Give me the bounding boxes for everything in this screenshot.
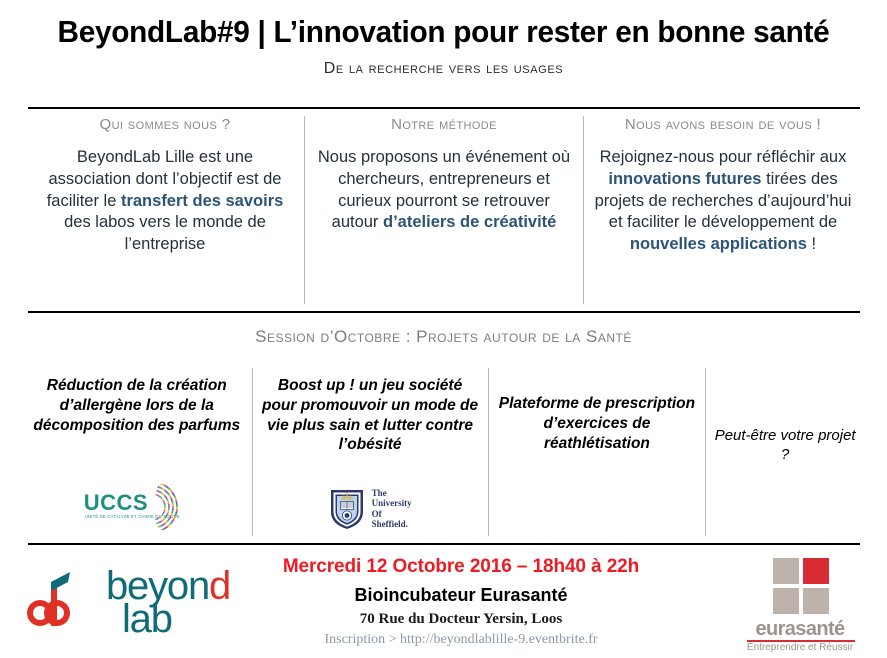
- sheffield-crest-icon: [329, 488, 365, 530]
- sheffield-line-1: The: [372, 488, 412, 499]
- intro-body-2: Nous proposons un événement où chercheur…: [313, 147, 575, 234]
- footer: beyond lab Mercredi 12 Octobre 2016 – 18…: [0, 548, 887, 658]
- intro-column-notre-methode: Notre méthode Nous proposons un événemen…: [304, 116, 583, 304]
- project-title-2: Boost up ! un jeu société pour promouvoi…: [261, 376, 480, 455]
- uccs-logo: UCCS UNITÉ DE CATALYSE ET CHIMIE DU SOLI…: [84, 484, 190, 530]
- intro-text-3e: !: [807, 235, 816, 253]
- project-column-parfums: Réduction de la création d’allergène lor…: [22, 368, 252, 536]
- eurasante-wordmark: eurasanté: [735, 618, 865, 641]
- intro-column-qui-sommes-nous: Qui sommes nous ? BeyondLab Lille est un…: [26, 116, 304, 304]
- poster-subtitle: De la recherche vers les usages: [0, 60, 887, 78]
- project-logo-slot-2: The University Of Sheffield.: [261, 480, 480, 530]
- intro-heading-2: Notre méthode: [313, 116, 575, 133]
- intro-body-3: Rejoignez-nous pour réfléchir aux innova…: [592, 147, 854, 256]
- project-title-4: Peut-être votre projet ?: [714, 426, 856, 464]
- project-columns: Réduction de la création d’allergène lor…: [22, 368, 864, 536]
- event-venue: Bioincubateur Eurasanté: [228, 585, 694, 606]
- divider-bottom: [28, 543, 860, 545]
- footer-details: Mercredi 12 Octobre 2016 – 18h40 à 22h B…: [228, 556, 694, 648]
- poster-root: BeyondLab#9 | L’innovation pour rester e…: [0, 0, 887, 658]
- beyondlab-word-d: d: [209, 564, 230, 608]
- intro-columns: Qui sommes nous ? BeyondLab Lille est un…: [26, 116, 862, 304]
- beyondlab-wordmark: beyond lab: [106, 570, 230, 636]
- beyondlab-logo: beyond lab: [18, 558, 218, 650]
- intro-text-3d: nouvelles applications: [630, 235, 807, 253]
- sheffield-line-2: University: [372, 498, 412, 509]
- project-title-3: Plateforme de prescription d’exercices d…: [497, 394, 698, 453]
- eurasante-tagline: Entreprendre et Réussir: [735, 642, 865, 653]
- intro-text-3b: innovations futures: [608, 170, 761, 188]
- intro-heading-3: Nous avons besoin de vous !: [592, 116, 854, 133]
- session-title: Session d’Octobre : Projets autour de la…: [0, 327, 887, 347]
- event-address: 70 Rue du Docteur Yersin, Loos: [228, 611, 694, 628]
- intro-text-1b: transfert des savoirs: [121, 192, 283, 210]
- intro-text-2b: d’ateliers de créativité: [383, 213, 556, 231]
- uccs-dot-ring-icon: [138, 484, 190, 530]
- eurasante-square-bottom-right: [803, 588, 829, 614]
- project-logo-slot-1: UCCS UNITÉ DE CATALYSE ET CHIMIE DU SOLI…: [30, 480, 244, 530]
- sheffield-line-4: Sheffield.: [372, 519, 412, 530]
- intro-text-3a: Rejoignez-nous pour réfléchir aux: [600, 148, 847, 166]
- sheffield-logo-text: The University Of Sheffield.: [372, 488, 412, 530]
- divider-middle: [28, 311, 860, 313]
- project-column-plateforme: Plateforme de prescription d’exercices d…: [488, 368, 706, 536]
- divider-top: [28, 107, 860, 109]
- eurasante-square-top-left: [773, 558, 799, 584]
- sheffield-line-3: Of: [372, 509, 412, 520]
- project-title-1: Réduction de la création d’allergène lor…: [30, 376, 244, 435]
- intro-heading-1: Qui sommes nous ?: [34, 116, 296, 133]
- intro-body-1: BeyondLab Lille est une association dont…: [34, 147, 296, 256]
- sheffield-logo: The University Of Sheffield.: [329, 488, 412, 530]
- beyondlab-mark-icon: [18, 566, 102, 642]
- project-column-votre-projet: Peut-être votre projet ?: [705, 368, 864, 536]
- intro-text-1c: des labos vers le monde de l’entreprise: [64, 213, 266, 253]
- intro-column-besoin-de-vous: Nous avons besoin de vous ! Rejoignez-no…: [583, 116, 862, 304]
- eurasante-square-top-right: [803, 558, 829, 584]
- registration-link[interactable]: Inscription > http://beyondlablille-9.ev…: [228, 632, 694, 648]
- project-column-boost-up: Boost up ! un jeu société pour promouvoi…: [252, 368, 488, 536]
- event-date: Mercredi 12 Octobre 2016 – 18h40 à 22h: [228, 556, 694, 578]
- eurasante-logo: eurasanté Entreprendre et Réussir: [735, 556, 865, 652]
- eurasante-square-bottom-left: [773, 588, 799, 614]
- poster-title: BeyondLab#9 | L’innovation pour rester e…: [18, 14, 870, 50]
